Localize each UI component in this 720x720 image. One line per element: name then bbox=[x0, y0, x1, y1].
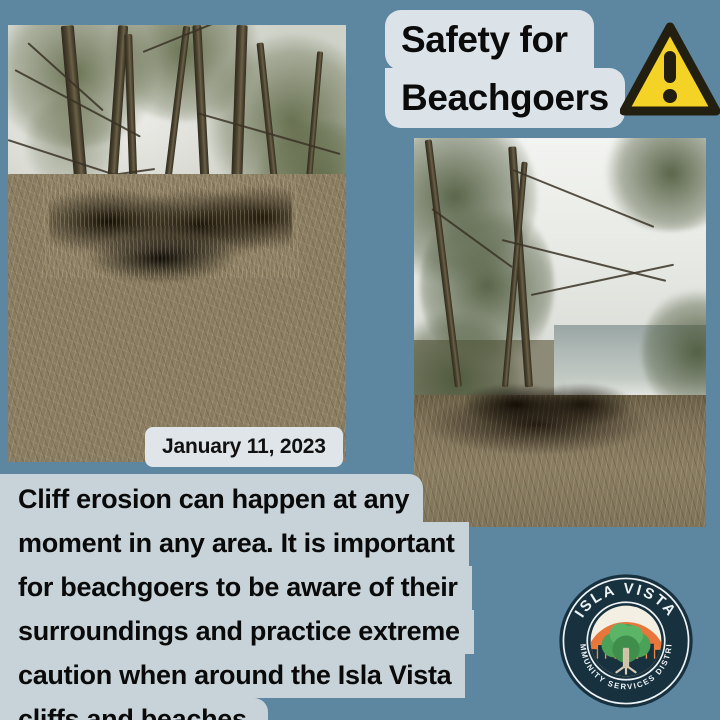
body-line: surroundings and practice extreme bbox=[0, 610, 474, 654]
poster-canvas: Safety for Beachgoers January 11, 2023 C… bbox=[0, 0, 720, 720]
body-line: cliffs and beaches. bbox=[0, 698, 268, 720]
root-fringe bbox=[42, 174, 299, 279]
body-line: for beachgoers to be aware of their bbox=[0, 566, 472, 610]
exclamation-dot bbox=[663, 89, 677, 103]
body-line: moment in any area. It is important bbox=[0, 522, 469, 566]
title-line-1: Safety for bbox=[385, 10, 594, 70]
poster-title: Safety for Beachgoers bbox=[385, 10, 625, 128]
erosion-gash bbox=[467, 379, 631, 430]
photo-cliff-erosion-trees bbox=[8, 25, 346, 462]
title-line-2: Beachgoers bbox=[385, 68, 625, 128]
body-line: caution when around the Isla Vista bbox=[0, 654, 465, 698]
date-badge: January 11, 2023 bbox=[145, 427, 343, 467]
isla-vista-community-services-district-logo: ISLA VISTA COMMUNITY SERVICES DISTRICT bbox=[558, 573, 694, 709]
body-text-block: Cliff erosion can happen at any moment i… bbox=[0, 474, 474, 720]
exclamation-bar bbox=[664, 51, 676, 83]
photo-cliff-erosion-ocean bbox=[414, 138, 706, 527]
warning-triangle-icon bbox=[620, 21, 720, 121]
body-line: Cliff erosion can happen at any bbox=[0, 474, 423, 522]
